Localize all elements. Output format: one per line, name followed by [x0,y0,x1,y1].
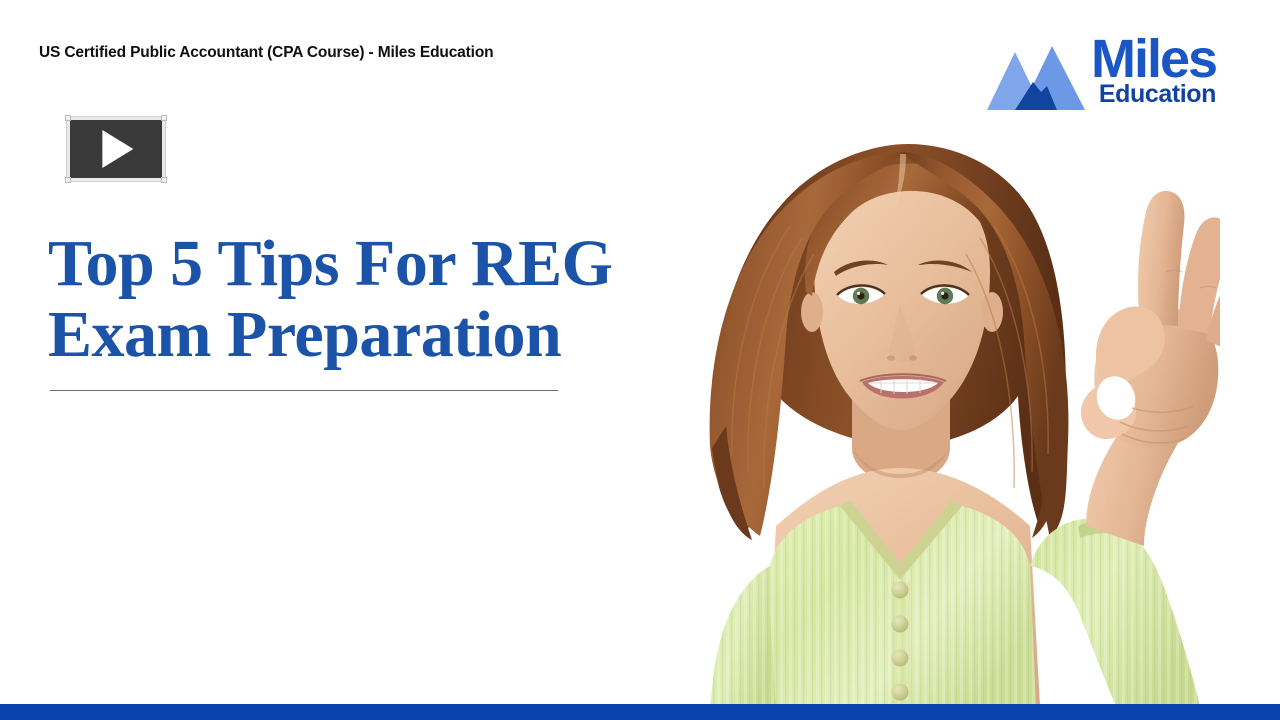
headline-line-1: Top 5 Tips For REG [48,228,608,299]
resize-handle-top-right[interactable] [161,115,167,121]
slide-canvas: US Certified Public Accountant (CPA Cour… [0,0,1280,720]
footer-accent-bar [0,704,1280,720]
resize-handle-bottom-left[interactable] [65,177,71,183]
ear-right [981,292,1003,332]
resize-handle-bottom-right[interactable] [161,177,167,183]
play-triangle-icon [102,130,133,168]
slide-headline: Top 5 Tips For REG Exam Preparation [48,228,608,371]
page-title: US Certified Public Accountant (CPA Cour… [39,44,493,62]
resize-handle-top-left[interactable] [65,115,71,121]
finger-middle [1138,191,1185,326]
headline-line-2: Exam Preparation [48,299,608,370]
headline-divider [50,390,558,391]
woman-illustration [600,96,1220,706]
woman-ok-gesture-photo [600,96,1220,706]
video-play-button[interactable] [67,117,165,181]
ear-left [801,292,823,332]
logo-brand-name: Miles [1091,32,1216,86]
